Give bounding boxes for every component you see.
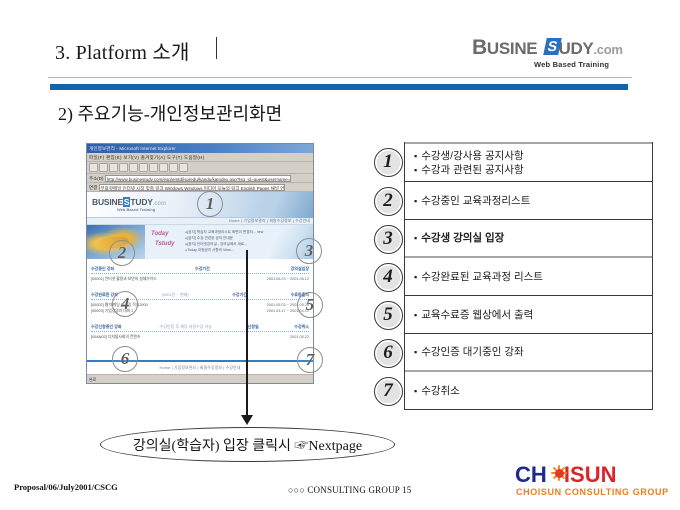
course-date: 2001.05.23 ~ 2001.06.12 — [267, 276, 309, 282]
legend-bullets: 수강완료된 교육과정 리스트 — [414, 270, 543, 284]
section-header: 수강중인 강좌 수강기간 강의실입장 — [91, 266, 309, 274]
legend-row-4: 수강완료된 교육과정 리스트 — [405, 258, 652, 296]
legend-bullets: 수강생/강사용 공지사항 수강과 관련된 공지사항 — [414, 149, 524, 177]
legend-bullet: 수강중인 교육과정리스트 — [414, 194, 530, 208]
legend-number-5: 5 — [374, 301, 403, 330]
legend-bullet: 수강인증 대기중인 강좌 — [414, 345, 524, 359]
legend-number-cell: 5 — [371, 296, 405, 334]
legend-bullets: 수강인증 대기중인 강좌 — [414, 345, 524, 359]
notice-item[interactable]: Today 과정공지 사항의 View... — [185, 247, 263, 253]
page-logo-post: TUDY — [130, 197, 152, 207]
hero-notice-list[interactable]: [공지] 학습자 교육과정리스트 화면이 변경되... new [공지] 수강 … — [185, 229, 263, 253]
callout-bubble: 강의실(학습자) 입장 클릭시 ☞Nextpage — [100, 427, 395, 462]
banner-swoosh-graphic — [227, 192, 313, 218]
legend-table: 수강생/강사용 공지사항 수강과 관련된 공지사항 수강중인 교육과정리스트 수… — [404, 142, 653, 410]
legend-bullets: 교육수료증 웹상에서 출력 — [414, 308, 533, 322]
choisun-logo: CHOISUN CHOISUN CONSULTING GROUP — [515, 462, 665, 502]
overlay-marker-4: 4 — [112, 291, 138, 317]
section-title: 수강신청중인 강좌 — [91, 324, 122, 330]
browser-links-bar[interactable]: 연결 무료핫메일 인터넷 시작 맞춤 링크 Windows Windows 미디… — [87, 183, 313, 192]
section-col-right: 수강취소 — [294, 324, 309, 330]
overlay-marker-7: 7 — [297, 347, 323, 373]
legend-number-cell: 1 — [371, 142, 405, 182]
legend-bullet: 수강취소 — [414, 384, 460, 398]
callout-arrow-line — [246, 250, 248, 418]
legend-bullet: 수강완료된 교육과정 리스트 — [414, 270, 543, 284]
back-icon[interactable] — [89, 163, 98, 172]
legend-row-6: 수강인증 대기중인 강좌 — [405, 334, 652, 372]
legend-bullet: 수강생 강의실 입장 — [414, 231, 504, 245]
section-pending: 수강신청중인 강좌 - 수강인증 후 해당 과정수강 가능 신청일 수강취소 [… — [87, 321, 313, 340]
page-title: 3. Platform 소개 — [55, 36, 190, 65]
overlay-marker-5: 5 — [297, 292, 323, 318]
legend-number-cell: 2 — [371, 182, 405, 220]
page-logo: BUSINESTUDY.com — [92, 197, 166, 207]
refresh-icon[interactable] — [119, 163, 128, 172]
page-logo-pre: BUSINE — [92, 197, 123, 207]
section-header: 수강신청중인 강좌 - 수강인증 후 해당 과정수강 가능 신청일 수강취소 — [91, 324, 309, 332]
header-rule-thin — [48, 77, 632, 78]
address-input[interactable]: http://www.businestudy.com/esp/emtd/jsp/… — [105, 175, 291, 182]
course-date: 2001.05.22 — [290, 334, 309, 340]
legend-bullets: 수강생 강의실 입장 — [414, 231, 504, 245]
legend-number-6: 6 — [374, 339, 403, 368]
browser-status-bar: 완료 — [87, 374, 313, 383]
section-subtitle: - 수강인증 후 해당 과정수강 가능 — [157, 324, 212, 330]
section-subtitle: (2001년 ~ 현재) — [161, 292, 188, 298]
sun-core — [555, 469, 564, 478]
legend-row-3: 수강생 강의실 입장 — [405, 220, 652, 258]
legend-number-column: 1 2 3 4 5 6 7 — [371, 142, 405, 410]
choisun-isun: ISUN — [564, 462, 617, 487]
slide-canvas: 3. Platform 소개 2) 주요기능-개인정보관리화면 BUSINEST… — [0, 0, 680, 510]
legend-number-cell: 6 — [371, 334, 405, 372]
legend-bullet: 수강과 관련된 공지사항 — [414, 163, 524, 177]
choisun-subtitle: CHOISUN CONSULTING GROUP — [516, 487, 669, 497]
overlay-marker-1: 1 — [197, 191, 223, 217]
legend-bullets: 수강취소 — [414, 384, 460, 398]
browser-title-text: 개인정보관리 - Microsoft Internet Explorer — [89, 146, 176, 152]
legend-bullet: 교육수료증 웹상에서 출력 — [414, 308, 533, 322]
sun-icon — [551, 465, 567, 481]
section-col-mid: 신청일 — [248, 324, 259, 330]
hero-today-label: Today — [151, 231, 168, 237]
section-col-mid: 수강기간 — [232, 292, 247, 298]
section-col-right: 강의실입장 — [291, 266, 309, 272]
mail-icon[interactable] — [169, 163, 178, 172]
brand-word-mid: USINE — [487, 39, 537, 58]
page-subtitle: 2) 주요기능-개인정보관리화면 — [58, 100, 282, 126]
businestudy-logo: BUSINESTUDY.com S Web Based Training — [472, 36, 632, 70]
title-text-caret — [216, 37, 217, 59]
history-icon[interactable] — [159, 163, 168, 172]
browser-toolbar[interactable] — [87, 162, 313, 174]
course-row[interactable]: [00AN02] 디지털사회의 컨텐츠 2001.05.22 — [91, 334, 309, 340]
course-name: [00001] 인터넷 활용과 보안의 실제가이드 — [91, 276, 157, 282]
page-topnav[interactable]: Home | 기업정보관리 | 회원수강정보 | 수강안내 — [87, 218, 313, 225]
course-row[interactable]: [00001] 인터넷 활용과 보안의 실제가이드 2001.05.23 ~ 2… — [91, 276, 309, 282]
legend-number-4: 4 — [374, 263, 403, 292]
legend-row-2: 수강중인 교육과정리스트 — [405, 182, 652, 220]
section-title: 수강중인 강좌 — [91, 266, 114, 272]
choisun-ch: CH — [515, 462, 547, 487]
browser-menu-bar[interactable]: 파일(F) 편집(E) 보기(V) 즐겨찾기(A) 도구(T) 도움말(H) — [87, 153, 313, 162]
links-label: 연결 — [89, 185, 97, 190]
address-label: 주소(D) — [89, 176, 104, 181]
legend-row-7: 수강취소 — [405, 372, 652, 410]
hero-tstudy-label: Tstudy — [155, 241, 174, 247]
legend-bullets: 수강중인 교육과정리스트 — [414, 194, 530, 208]
favorites-icon[interactable] — [149, 163, 158, 172]
legend-number-2: 2 — [374, 187, 403, 216]
footer-center-text: ○○○ CONSULTING GROUP 15 — [288, 485, 412, 495]
header-rule-thick — [50, 84, 628, 90]
links-list[interactable]: 무료핫메일 인터넷 시작 맞춤 링크 Windows Windows 미디어 오… — [99, 184, 285, 191]
page-logo-tagline: Web Based Training — [117, 207, 155, 212]
legend-number-cell: 4 — [371, 258, 405, 296]
footer-left-text: Proposal/06/July2001/CSCG — [14, 482, 118, 492]
legend-number-cell: 7 — [371, 372, 405, 410]
home-icon[interactable] — [129, 163, 138, 172]
browser-address-bar[interactable]: 주소(D) http://www.businestudy.com/esp/emt… — [87, 174, 313, 183]
legend-number-cell: 3 — [371, 220, 405, 258]
legend-row-5: 교육수료증 웹상에서 출력 — [405, 296, 652, 334]
legend-number-3: 3 — [374, 225, 403, 254]
search-icon[interactable] — [139, 163, 148, 172]
brand-letter-b: B — [472, 36, 487, 59]
legend-row-1: 수강생/강사용 공지사항 수강과 관련된 공지사항 — [405, 142, 652, 182]
legend-number-1: 1 — [374, 148, 403, 177]
course-name: [00AN02] 디지털사회의 컨텐츠 — [91, 334, 140, 340]
stop-icon[interactable] — [109, 163, 118, 172]
browser-title-bar: 개인정보관리 - Microsoft Internet Explorer — [87, 144, 313, 153]
callout-arrow-head-icon — [241, 415, 253, 425]
brand-dotcom: .com — [593, 42, 622, 57]
legend-number-7: 7 — [374, 377, 403, 406]
section-col-mid: 수강기간 — [195, 266, 210, 272]
overlay-marker-2: 2 — [109, 240, 135, 266]
print-icon[interactable] — [179, 163, 188, 172]
legend-bullet: 수강생/강사용 공지사항 — [414, 149, 524, 163]
overlay-marker-3: 3 — [296, 238, 322, 264]
brand-tagline: Web Based Training — [534, 60, 609, 69]
forward-icon[interactable] — [99, 163, 108, 172]
overlay-marker-6: 6 — [112, 346, 138, 372]
